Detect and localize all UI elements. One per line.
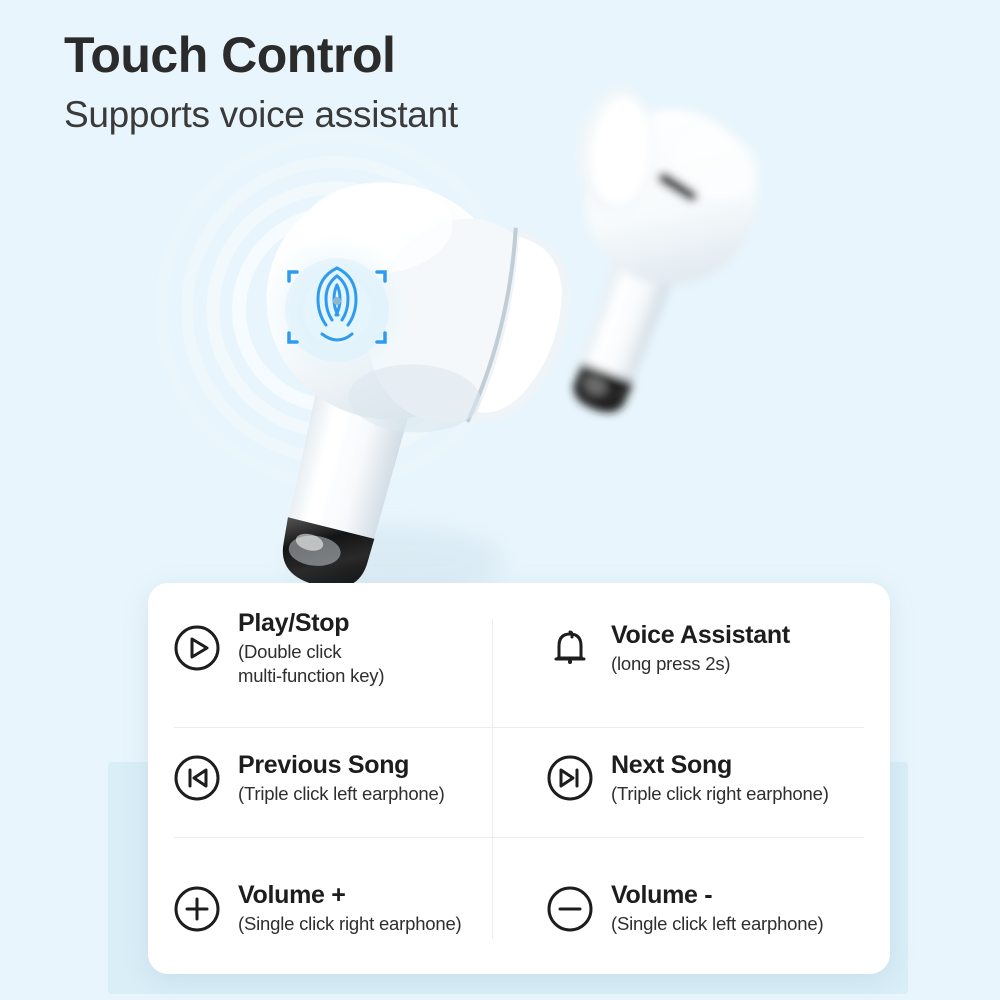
front-earbud — [161, 136, 595, 629]
product-feature-image: Touch Control Supports voice assistant — [0, 0, 1000, 1000]
page-subtitle: Supports voice assistant — [64, 94, 624, 137]
feature-item-play-stop[interactable]: Play/Stop (Double click multi-function k… — [148, 583, 519, 713]
column-divider — [492, 619, 493, 939]
feature-title: Volume - — [611, 881, 823, 910]
feature-subtitle: (long press 2s) — [611, 652, 790, 676]
previous-track-circle-icon — [170, 751, 224, 805]
play-circle-icon — [170, 621, 224, 675]
feature-title: Next Song — [611, 751, 829, 780]
feature-title: Previous Song — [238, 751, 445, 780]
row-divider — [174, 837, 864, 838]
minus-circle-icon — [543, 882, 597, 936]
row-divider — [174, 727, 864, 728]
header-block: Touch Control Supports voice assistant — [64, 28, 624, 137]
feature-title: Volume + — [238, 881, 462, 910]
feature-subtitle: (Single click right earphone) — [238, 912, 462, 936]
feature-item-voice-assistant[interactable]: Voice Assistant (long press 2s) — [519, 583, 890, 713]
plus-circle-icon — [170, 882, 224, 936]
feature-title: Play/Stop — [238, 609, 384, 638]
feature-item-volume-up[interactable]: Volume + (Single click right earphone) — [148, 844, 519, 974]
feature-subtitle: (Triple click left earphone) — [238, 782, 445, 806]
feature-subtitle: (Single click left earphone) — [611, 912, 823, 936]
feature-subtitle: (Triple click right earphone) — [611, 782, 829, 806]
feature-item-next-song[interactable]: Next Song (Triple click right earphone) — [519, 713, 890, 843]
feature-grid: Play/Stop (Double click multi-function k… — [148, 583, 890, 974]
next-track-circle-icon — [543, 751, 597, 805]
feature-item-volume-down[interactable]: Volume - (Single click left earphone) — [519, 844, 890, 974]
feature-item-previous-song[interactable]: Previous Song (Triple click left earphon… — [148, 713, 519, 843]
page-title: Touch Control — [64, 28, 624, 82]
feature-title: Voice Assistant — [611, 621, 790, 650]
feature-card: Play/Stop (Double click multi-function k… — [148, 583, 890, 974]
bell-icon — [543, 621, 597, 675]
feature-subtitle: (Double click multi-function key) — [238, 640, 384, 687]
